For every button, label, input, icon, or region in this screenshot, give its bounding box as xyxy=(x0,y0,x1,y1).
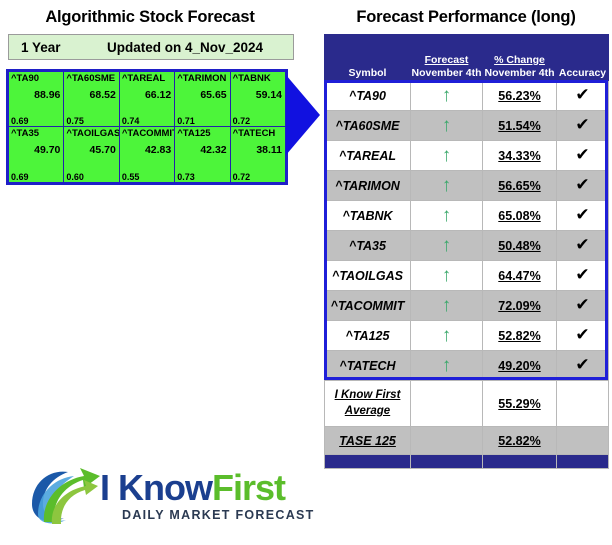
header-change-sub: November 4th xyxy=(484,67,554,79)
row-change: 56.23% xyxy=(483,81,557,111)
average-change-value: 55.29% xyxy=(498,397,540,411)
arrow-up-icon: ↑ xyxy=(442,176,452,195)
checkmark-icon: ✔ xyxy=(575,295,589,314)
table-row: ^TATECH↑49.20%✔ xyxy=(325,351,609,381)
forecast-cell-symbol: ^TABNK xyxy=(233,73,271,84)
forecast-cell-predictability: 0.72 xyxy=(233,116,251,126)
arrow-up-icon: ↑ xyxy=(442,206,452,225)
row-symbol: ^TACOMMIT xyxy=(325,291,411,321)
forecast-cell: ^TATECH38.110.72 xyxy=(231,127,285,182)
logo-word-green: First xyxy=(212,467,285,508)
forecast-cell-symbol: ^TA60SME xyxy=(66,73,115,84)
row-accuracy: ✔ xyxy=(557,171,609,201)
forecast-cell-value: 65.65 xyxy=(200,89,226,101)
forecast-cell-value: 42.83 xyxy=(145,144,171,156)
table-row: ^TA35↑50.48%✔ xyxy=(325,231,609,261)
row-accuracy: ✔ xyxy=(557,81,609,111)
row-accuracy: ✔ xyxy=(557,231,609,261)
header-forecast-top: Forecast xyxy=(411,54,482,67)
row-change-value: 56.65% xyxy=(498,179,540,193)
forecast-cell-predictability: 0.74 xyxy=(122,116,140,126)
forecast-cell-symbol: ^TATECH xyxy=(233,128,276,139)
forecast-cell-value: 45.70 xyxy=(90,144,116,156)
forecast-cell-value: 59.14 xyxy=(256,89,282,101)
average-label-line1: I Know First xyxy=(325,388,410,404)
table-row: ^TARIMON↑56.65%✔ xyxy=(325,171,609,201)
row-symbol: ^TA60SME xyxy=(325,111,411,141)
left-panel-title: Algorithmic Stock Forecast xyxy=(0,8,300,27)
row-change-value: 64.47% xyxy=(498,269,540,283)
arrow-up-icon: ↑ xyxy=(442,356,452,375)
forecast-cell-symbol: ^TACOMMIT xyxy=(122,128,175,139)
row-change: 49.20% xyxy=(483,351,557,381)
forecast-cell: ^TA60SME68.520.75 xyxy=(64,72,119,127)
forecast-grid-row: ^TA3549.700.69^TAOILGAS45.700.60^TACOMMI… xyxy=(9,127,285,182)
forecast-cell: ^TA9088.960.69 xyxy=(9,72,64,127)
logo-swoosh-icon xyxy=(28,464,102,526)
forecast-cell-predictability: 0.73 xyxy=(177,172,195,182)
footer-cell xyxy=(483,455,557,469)
footer-cell xyxy=(557,455,609,469)
forecast-cell-predictability: 0.60 xyxy=(66,172,84,182)
performance-table: Symbol Forecast November 4th % Change No… xyxy=(324,34,609,469)
forecast-cell-predictability: 0.72 xyxy=(233,172,251,182)
header-accuracy-label: Accuracy xyxy=(559,67,606,79)
row-change-value: 50.48% xyxy=(498,239,540,253)
checkmark-icon: ✔ xyxy=(575,115,589,134)
arrow-up-icon: ↑ xyxy=(442,266,452,285)
forecast-cell: ^TACOMMIT42.830.55 xyxy=(120,127,175,182)
forecast-cell: ^TAREAL66.120.74 xyxy=(120,72,175,127)
row-change-value: 65.08% xyxy=(498,209,540,223)
forecast-cell-value: 66.12 xyxy=(145,89,171,101)
logo-wordmark: I KnowFirst xyxy=(100,470,285,506)
table-row: ^TACOMMIT↑72.09%✔ xyxy=(325,291,609,321)
arrow-up-icon: ↑ xyxy=(442,296,452,315)
header-forecast: Forecast November 4th xyxy=(411,35,483,81)
row-symbol: ^TA35 xyxy=(325,231,411,261)
row-change: 34.33% xyxy=(483,141,557,171)
row-accuracy: ✔ xyxy=(557,111,609,141)
forecast-cell: ^TAOILGAS45.700.60 xyxy=(64,127,119,182)
row-symbol: ^TARIMON xyxy=(325,171,411,201)
forecast-cell-symbol: ^TAREAL xyxy=(122,73,165,84)
row-symbol: ^TABNK xyxy=(325,201,411,231)
forecast-cell: ^TA12542.320.73 xyxy=(175,127,230,182)
row-change-value: 51.54% xyxy=(498,119,540,133)
table-header-row: Symbol Forecast November 4th % Change No… xyxy=(325,35,609,81)
forecast-cell-value: 68.52 xyxy=(90,89,116,101)
right-panel-title: Forecast Performance (long) xyxy=(320,8,612,27)
header-change: % Change November 4th xyxy=(483,35,557,81)
row-change-value: 72.09% xyxy=(498,299,540,313)
row-change-value: 49.20% xyxy=(498,359,540,373)
forecast-cell-value: 88.96 xyxy=(34,89,60,101)
row-accuracy: ✔ xyxy=(557,201,609,231)
row-signal: ↑ xyxy=(411,261,483,291)
forecast-cell-predictability: 0.69 xyxy=(11,172,29,182)
checkmark-icon: ✔ xyxy=(575,175,589,194)
forecast-cell: ^TA3549.700.69 xyxy=(9,127,64,182)
row-change: 52.82% xyxy=(483,321,557,351)
forecast-grid: ^TA9088.960.69^TA60SME68.520.75^TAREAL66… xyxy=(6,69,288,185)
row-signal: ↑ xyxy=(411,111,483,141)
forecast-grid-row: ^TA9088.960.69^TA60SME68.520.75^TAREAL66… xyxy=(9,72,285,127)
table-row: ^TA60SME↑51.54%✔ xyxy=(325,111,609,141)
row-change: 51.54% xyxy=(483,111,557,141)
table-row: ^TABNK↑65.08%✔ xyxy=(325,201,609,231)
row-signal: ↑ xyxy=(411,201,483,231)
row-change-value: 56.23% xyxy=(498,89,540,103)
row-symbol: ^TATECH xyxy=(325,351,411,381)
average-row: I Know FirstAverage55.29% xyxy=(325,381,609,427)
average-label-line2: Average xyxy=(325,404,410,420)
header-change-top: % Change xyxy=(483,54,556,67)
row-change: 50.48% xyxy=(483,231,557,261)
header-symbol: Symbol xyxy=(325,35,411,81)
forecast-horizon-label: 1 Year xyxy=(9,40,107,55)
company-logo: I KnowFirst DAILY MARKET FORECAST xyxy=(28,462,298,532)
row-signal: ↑ xyxy=(411,351,483,381)
average-label: I Know FirstAverage xyxy=(325,381,411,427)
row-signal: ↑ xyxy=(411,321,483,351)
forecast-cell-predictability: 0.75 xyxy=(66,116,84,126)
footer-cell xyxy=(411,455,483,469)
header-forecast-sub: November 4th xyxy=(411,67,481,79)
benchmark-accuracy-empty xyxy=(557,427,609,455)
arrow-up-icon: ↑ xyxy=(442,86,452,105)
header-accuracy: Accuracy xyxy=(557,35,609,81)
table-row: ^TAOILGAS↑64.47%✔ xyxy=(325,261,609,291)
forecast-meta-bar: 1 Year Updated on 4_Nov_2024 xyxy=(8,34,294,60)
checkmark-icon: ✔ xyxy=(575,205,589,224)
footer-cell xyxy=(325,455,411,469)
row-signal: ↑ xyxy=(411,291,483,321)
table-row: ^TA90↑56.23%✔ xyxy=(325,81,609,111)
forecast-cell-symbol: ^TA35 xyxy=(11,128,39,139)
benchmark-row: TASE 12552.82% xyxy=(325,427,609,455)
checkmark-icon: ✔ xyxy=(575,85,589,104)
flow-arrow-icon xyxy=(286,75,320,155)
row-symbol: ^TAREAL xyxy=(325,141,411,171)
checkmark-icon: ✔ xyxy=(575,235,589,254)
forecast-updated-label: Updated on 4_Nov_2024 xyxy=(107,40,263,55)
forecast-cell-symbol: ^TA90 xyxy=(11,73,39,84)
forecast-cell-value: 38.11 xyxy=(256,144,282,156)
row-change: 64.47% xyxy=(483,261,557,291)
checkmark-icon: ✔ xyxy=(575,265,589,284)
checkmark-icon: ✔ xyxy=(575,325,589,344)
header-symbol-label: Symbol xyxy=(349,67,387,79)
row-signal: ↑ xyxy=(411,81,483,111)
arrow-up-icon: ↑ xyxy=(442,146,452,165)
row-accuracy: ✔ xyxy=(557,321,609,351)
row-change-value: 34.33% xyxy=(498,149,540,163)
forecast-cell-value: 49.70 xyxy=(34,144,60,156)
row-signal: ↑ xyxy=(411,141,483,171)
benchmark-change-value: 52.82% xyxy=(498,434,540,448)
forecast-cell: ^TARIMON65.650.71 xyxy=(175,72,230,127)
forecast-cell-symbol: ^TARIMON xyxy=(177,73,226,84)
row-symbol: ^TA90 xyxy=(325,81,411,111)
logo-word-blue: I Know xyxy=(100,467,212,508)
forecast-cell-symbol: ^TAOILGAS xyxy=(66,128,119,139)
row-accuracy: ✔ xyxy=(557,141,609,171)
arrow-up-icon: ↑ xyxy=(442,326,452,345)
checkmark-icon: ✔ xyxy=(575,145,589,164)
table-footer-strip xyxy=(325,455,609,469)
checkmark-icon: ✔ xyxy=(575,355,589,374)
forecast-cell-value: 42.32 xyxy=(200,144,226,156)
forecast-performance-panel: Forecast Performance (long) Symbol Forec… xyxy=(320,0,612,545)
row-accuracy: ✔ xyxy=(557,291,609,321)
row-symbol: ^TAOILGAS xyxy=(325,261,411,291)
row-change: 56.65% xyxy=(483,171,557,201)
performance-table-body: ^TA90↑56.23%✔^TA60SME↑51.54%✔^TAREAL↑34.… xyxy=(325,81,609,469)
forecast-cell-predictability: 0.71 xyxy=(177,116,195,126)
row-change: 65.08% xyxy=(483,201,557,231)
benchmark-signal-empty xyxy=(411,427,483,455)
arrow-up-icon: ↑ xyxy=(442,236,452,255)
row-accuracy: ✔ xyxy=(557,261,609,291)
average-accuracy-empty xyxy=(557,381,609,427)
forecast-cell-predictability: 0.69 xyxy=(11,116,29,126)
forecast-cell-symbol: ^TA125 xyxy=(177,128,210,139)
average-change: 55.29% xyxy=(483,381,557,427)
row-change: 72.09% xyxy=(483,291,557,321)
row-signal: ↑ xyxy=(411,171,483,201)
forecast-cell: ^TABNK59.140.72 xyxy=(231,72,285,127)
logo-tagline: DAILY MARKET FORECAST xyxy=(122,508,315,522)
row-change-value: 52.82% xyxy=(498,329,540,343)
benchmark-change: 52.82% xyxy=(483,427,557,455)
row-symbol: ^TA125 xyxy=(325,321,411,351)
arrow-up-icon: ↑ xyxy=(442,116,452,135)
table-row: ^TA125↑52.82%✔ xyxy=(325,321,609,351)
forecast-cell-predictability: 0.55 xyxy=(122,172,140,182)
row-accuracy: ✔ xyxy=(557,351,609,381)
benchmark-label: TASE 125 xyxy=(325,427,411,455)
table-row: ^TAREAL↑34.33%✔ xyxy=(325,141,609,171)
average-signal-empty xyxy=(411,381,483,427)
row-signal: ↑ xyxy=(411,231,483,261)
